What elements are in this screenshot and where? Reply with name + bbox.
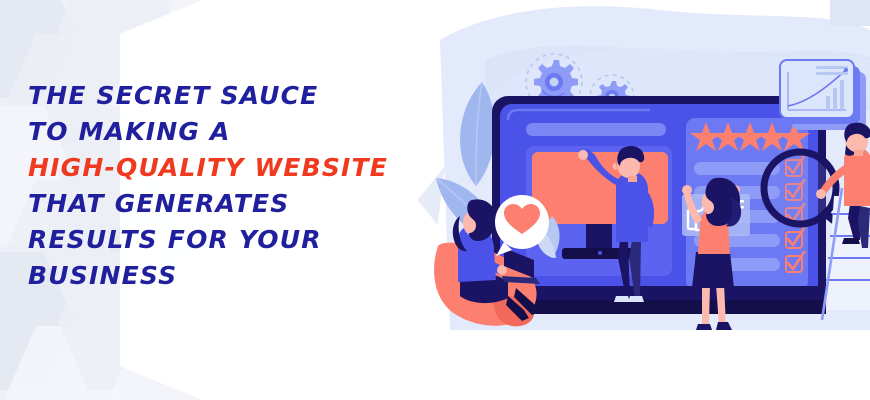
headline-line-5: RESULTS FOR YOUR xyxy=(28,222,378,258)
headline-line-4: THAT GENERATES xyxy=(28,186,378,222)
headline: THE SECRET SAUCE TO MAKING A HIGH-QUALIT… xyxy=(28,78,378,294)
headline-line-2: TO MAKING A xyxy=(28,114,378,150)
illustration xyxy=(430,0,870,400)
banner: THE SECRET SAUCE TO MAKING A HIGH-QUALIT… xyxy=(0,0,870,400)
analytics-window-stack xyxy=(780,60,866,130)
headline-line-1: THE SECRET SAUCE xyxy=(28,78,378,114)
corner-square xyxy=(830,0,870,26)
headline-line-6: BUSINESS xyxy=(28,258,378,294)
headline-line-3: HIGH-QUALITY WEBSITE xyxy=(28,150,378,186)
content-bar xyxy=(526,123,666,136)
